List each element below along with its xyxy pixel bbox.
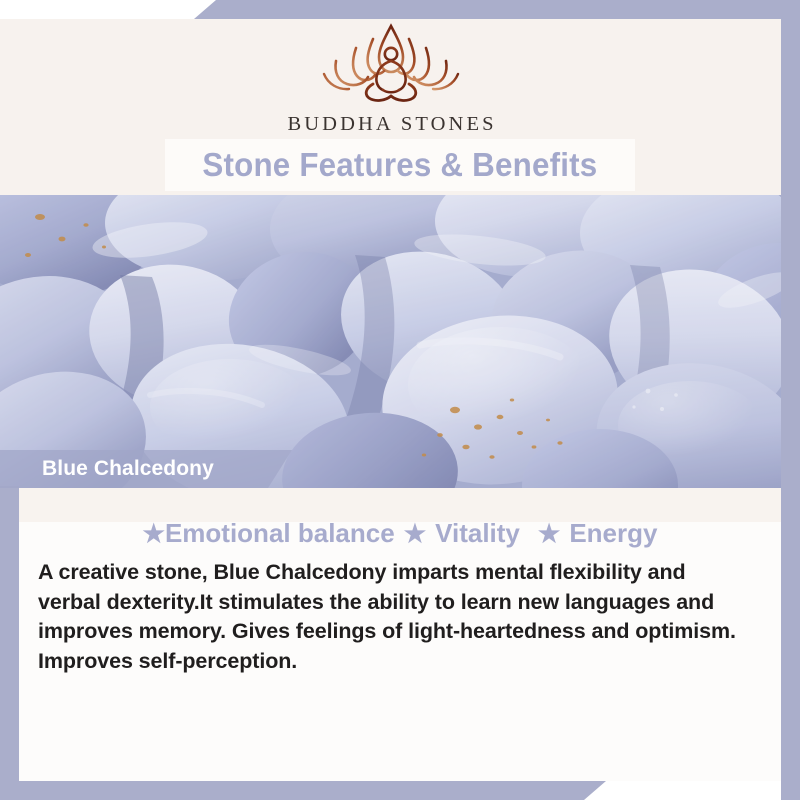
description-text: A creative stone, Blue Chalcedony impart… xyxy=(38,558,746,676)
keyword-energy: Energy xyxy=(569,518,657,548)
keyword-list: ★Emotional balance★Vitality★Energy xyxy=(19,518,781,549)
description-panel-topstrip xyxy=(19,488,781,522)
brand-name: BUDDHA STONES xyxy=(0,113,781,136)
keyword-emotional-balance: Emotional balance xyxy=(165,518,395,548)
frame-right-band xyxy=(781,0,800,800)
page-title: Stone Features & Benefits xyxy=(203,146,598,184)
stone-name-ribbon: Blue Chalcedony xyxy=(0,450,292,488)
brand-block: BUDDHA STONES xyxy=(0,22,781,136)
stone-benefits-poster: BUDDHA STONES Stone Features & Benefits xyxy=(0,0,800,800)
star-icon: ★ xyxy=(143,520,165,548)
frame-left-band xyxy=(0,486,19,800)
lotus-meditation-icon xyxy=(316,22,466,110)
stone-photo xyxy=(0,195,800,488)
stone-name-label: Blue Chalcedony xyxy=(42,457,214,481)
title-plaque: Stone Features & Benefits xyxy=(165,139,635,191)
star-icon: ★ xyxy=(404,520,426,548)
frame-bottom-band xyxy=(0,781,800,800)
frame-top-band xyxy=(0,0,800,19)
keyword-vitality: Vitality xyxy=(435,518,520,548)
star-icon: ★ xyxy=(538,520,560,548)
